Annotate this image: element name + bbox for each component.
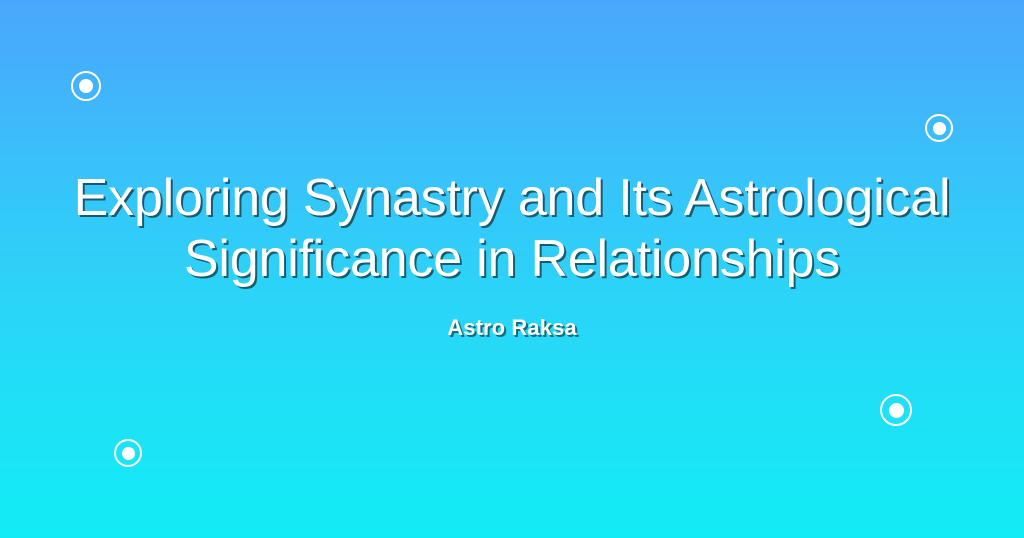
ring-center-dot: [889, 403, 904, 418]
presentation-slide: Exploring Synastry and Its Astrological …: [0, 0, 1024, 538]
slide-title: Exploring Synastry and Its Astrological …: [40, 168, 984, 290]
slide-subtitle: Astro Raksa: [40, 315, 984, 341]
ring-dot-icon-bottom-right: [880, 394, 912, 426]
ring-dot-icon-bottom-left: [114, 439, 142, 467]
ring-dot-icon-top-left: [71, 71, 101, 101]
ring-center-dot: [933, 122, 946, 135]
ring-center-dot: [79, 79, 93, 93]
ring-dot-icon-top-right: [925, 114, 953, 142]
slide-text-block: Exploring Synastry and Its Astrological …: [0, 168, 1024, 341]
ring-center-dot: [122, 447, 135, 460]
